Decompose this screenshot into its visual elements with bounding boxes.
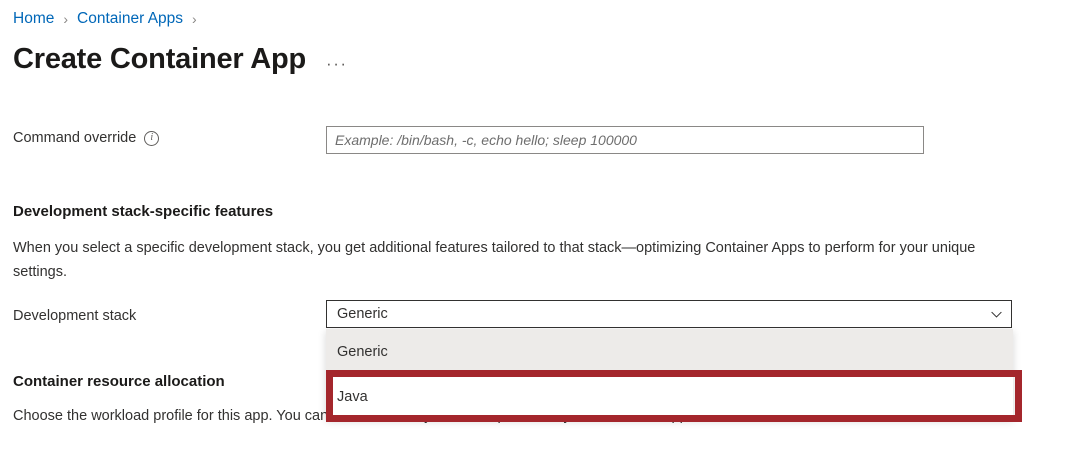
breadcrumb-item-home[interactable]: Home [13,8,54,30]
development-stack-label-text: Development stack [13,306,136,326]
command-override-input[interactable] [326,126,924,154]
breadcrumb-separator-icon: › [192,8,197,30]
command-override-label-text: Command override [13,128,136,148]
breadcrumb-separator-icon: › [63,8,68,30]
development-stack-dropdown-list: Generic Java [326,329,1013,419]
breadcrumb-item-container-apps[interactable]: Container Apps [77,8,183,30]
command-override-label: Command override i [13,128,159,148]
development-stack-label: Development stack [13,306,136,326]
chevron-down-icon [990,308,1003,321]
info-icon[interactable]: i [144,131,159,146]
more-options-icon[interactable]: ··· [326,54,347,74]
dropdown-option-generic[interactable]: Generic [326,329,1013,374]
development-stack-selected-value: Generic [337,306,990,322]
dropdown-option-java[interactable]: Java [326,374,1013,419]
dev-stack-section-description: When you select a specific development s… [13,236,1013,284]
breadcrumb: Home › Container Apps › [13,8,206,30]
page-header: Create Container App ··· [13,40,348,78]
resource-section-heading: Container resource allocation [13,372,225,392]
development-stack-combobox[interactable]: Generic [326,300,1012,328]
dev-stack-section-heading: Development stack-specific features [13,202,273,222]
page-title: Create Container App [13,40,306,78]
